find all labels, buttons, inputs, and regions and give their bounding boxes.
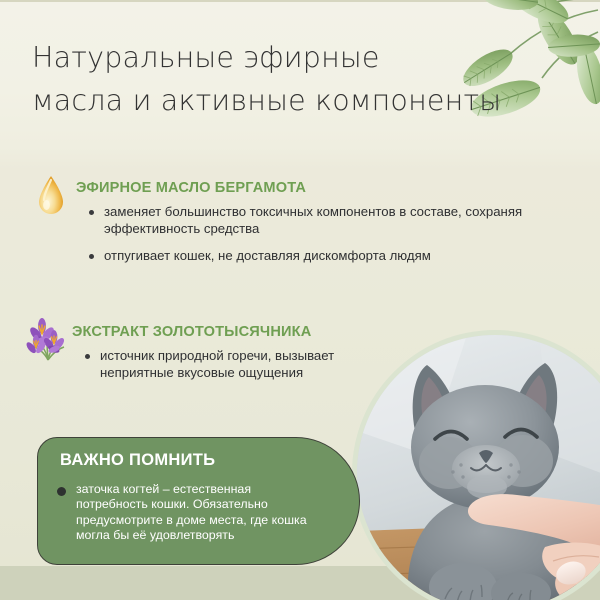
crocus-flower-icon — [24, 316, 70, 364]
bullet-dot-icon — [89, 254, 94, 259]
bullet-dot-icon — [89, 210, 94, 215]
page-title-line-1: Натуральные эфирные — [32, 36, 502, 79]
list-item: отпугивает кошек, не доставляя дискомфор… — [88, 248, 568, 265]
callout-title: ВАЖНО ПОМНИТЬ — [60, 451, 215, 470]
section-heading-centaury: ЭКСТРАКТ ЗОЛОТОТЫСЯЧНИКА — [72, 324, 311, 340]
bullet-dot-icon — [85, 354, 90, 359]
top-divider-line — [0, 0, 600, 2]
page-title-line-2: масла и активные компоненты — [32, 79, 502, 122]
page-title: Натуральные эфирные масла и активные ком… — [32, 36, 502, 122]
photo-crop — [357, 335, 600, 600]
list-item: источник природной горечи, вызывает непр… — [84, 348, 344, 381]
important-callout: ВАЖНО ПОМНИТЬ заточка когтей – естествен… — [37, 437, 360, 565]
list-item-text: заменяет большинство токсичных компонент… — [104, 204, 522, 236]
list-item: заменяет большинство токсичных компонент… — [88, 204, 568, 237]
bullet-dot-icon — [57, 487, 66, 496]
oil-drop-icon — [28, 172, 74, 220]
section-heading-bergamot: ЭФИРНОЕ МАСЛО БЕРГАМОТА — [76, 180, 306, 196]
slide-root: Натуральные эфирные масла и активные ком… — [0, 0, 600, 600]
list-item-text: отпугивает кошек, не доставляя дискомфор… — [104, 248, 431, 263]
list-item-text: источник природной горечи, вызывает непр… — [100, 348, 334, 380]
bullet-list-centaury: источник природной горечи, вызывает непр… — [84, 348, 344, 381]
bullet-list-bergamot: заменяет большинство токсичных компонент… — [88, 204, 568, 265]
callout-text: заточка когтей – естественная потребност… — [76, 482, 326, 544]
